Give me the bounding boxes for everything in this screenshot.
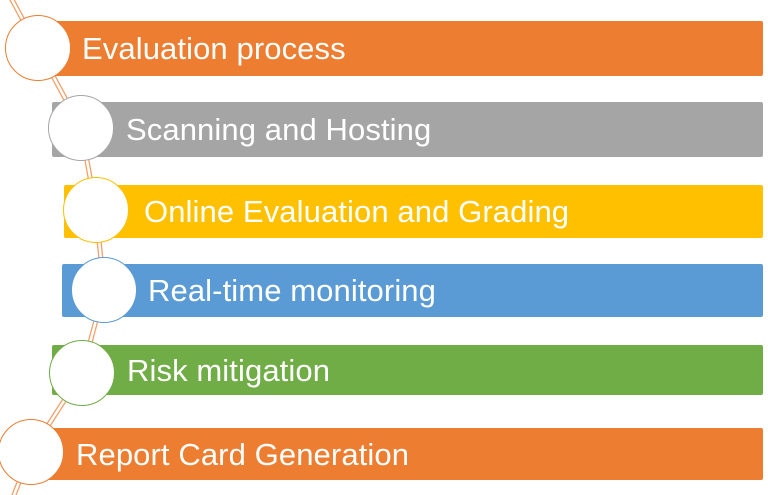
- step-label: Online Evaluation and Grading: [144, 196, 569, 227]
- step-circle[interactable]: [71, 257, 137, 323]
- step-circle[interactable]: [48, 95, 114, 161]
- step-bar[interactable]: Risk mitigation: [52, 345, 763, 395]
- step-label: Real-time monitoring: [148, 275, 436, 306]
- step-bar[interactable]: Report Card Generation: [30, 428, 763, 480]
- diagram-canvas: Evaluation processScanning and HostingOn…: [0, 0, 768, 495]
- step-label: Scanning and Hosting: [126, 114, 431, 145]
- step-circle[interactable]: [0, 419, 64, 485]
- step-bar[interactable]: Evaluation process: [34, 21, 763, 76]
- step-bar[interactable]: Scanning and Hosting: [52, 102, 763, 157]
- step-circle[interactable]: [63, 177, 129, 243]
- step-bar[interactable]: Real-time monitoring: [62, 264, 763, 317]
- step-circle[interactable]: [5, 15, 71, 81]
- step-circle[interactable]: [49, 340, 115, 406]
- step-label: Evaluation process: [82, 33, 346, 64]
- step-label: Risk mitigation: [127, 355, 330, 386]
- step-bar[interactable]: Online Evaluation and Grading: [64, 185, 763, 238]
- step-label: Report Card Generation: [76, 439, 409, 470]
